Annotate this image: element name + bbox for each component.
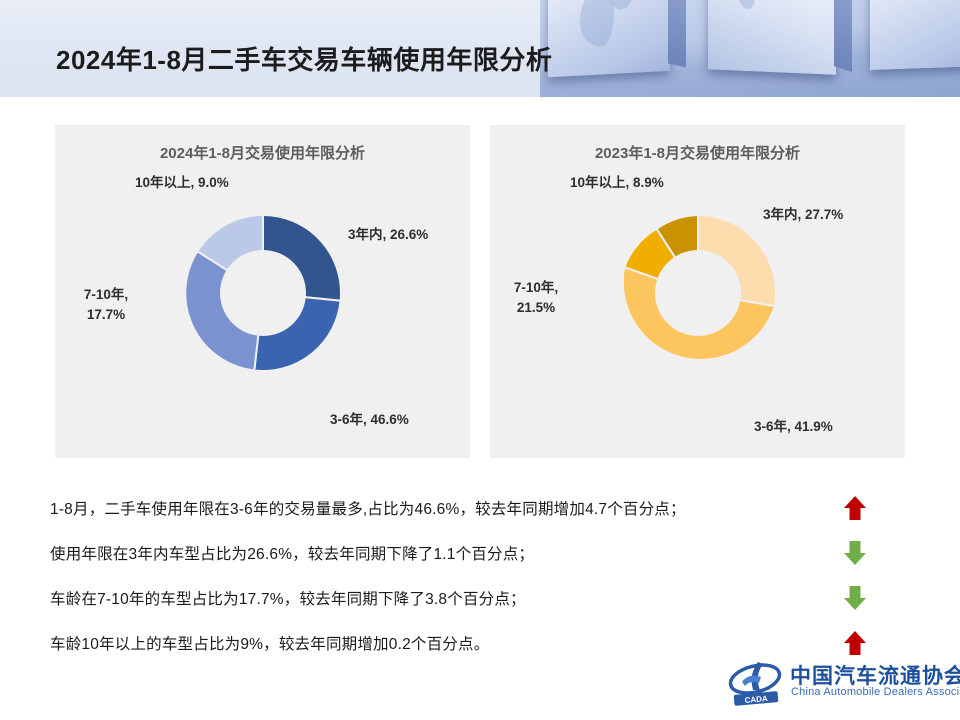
svg-text:CADA: CADA bbox=[744, 694, 768, 705]
summary-row: 车龄在7-10年的车型占比为17.7%，较去年同期下降了3.8个百分点； bbox=[0, 575, 960, 620]
summary-row: 使用年限在3年内车型占比为26.6%，较去年同期下降了1.1个百分点； bbox=[0, 530, 960, 575]
summary-text: 使用年限在3年内车型占比为26.6%，较去年同期下降了1.1个百分点； bbox=[50, 542, 534, 564]
cada-swoosh-logo-icon: CADA bbox=[728, 660, 786, 706]
slice-label-3-6年-2024: 3-6年, 46.6% bbox=[330, 410, 409, 430]
donut-chart-2024 bbox=[175, 205, 351, 381]
slice-label-3-6年-2023: 3-6年, 41.9% bbox=[754, 417, 833, 437]
chart-panel-2024: 2024年1-8月交易使用年限分析 10年以上, 9.0% 3年内, 26.6%… bbox=[55, 125, 470, 458]
arrow-down-icon bbox=[840, 583, 870, 613]
donut-chart-2023 bbox=[610, 205, 786, 381]
chart-panel-2023: 2023年1-8月交易使用年限分析 10年以上, 8.9% 3年内, 27.7%… bbox=[490, 125, 905, 458]
slice-label-10年以上-2023: 10年以上, 8.9% bbox=[570, 173, 664, 193]
slice-label-3年内-2024: 3年内, 26.6% bbox=[348, 225, 428, 245]
world-map-blob bbox=[738, 0, 756, 9]
summary-row: 车龄10年以上的车型占比为9%，较去年同期增加0.2个百分点。 bbox=[0, 620, 960, 665]
summary-text: 1-8月，二手车使用年限在3-6年的交易量最多,占比为46.6%，较去年同期增加… bbox=[50, 497, 686, 519]
header-decoration-image bbox=[540, 0, 960, 97]
slice-label-line1: 7-10年, bbox=[60, 285, 152, 305]
logo-text-en: China Automobile Dealers Association bbox=[791, 686, 960, 698]
page-title: 2024年1-8月二手车交易车辆使用年限分析 bbox=[56, 40, 552, 77]
summary-list: 1-8月，二手车使用年限在3-6年的交易量最多,占比为46.6%，较去年同期增加… bbox=[0, 485, 960, 665]
world-map-blob bbox=[580, 0, 614, 48]
slice-label-7-10年-2023: 7-10年, 21.5% bbox=[490, 278, 582, 317]
arrow-down-icon bbox=[840, 538, 870, 568]
slice-label-line2: 21.5% bbox=[490, 298, 582, 318]
slice-label-line2: 17.7% bbox=[60, 305, 152, 325]
decor-cube-1 bbox=[548, 0, 670, 77]
arrow-up-icon bbox=[840, 628, 870, 658]
summary-text: 车龄在7-10年的车型占比为17.7%，较去年同期下降了3.8个百分点； bbox=[50, 587, 526, 609]
decor-cube-2 bbox=[708, 0, 836, 75]
decor-cube-side bbox=[668, 0, 686, 67]
arrow-up-icon bbox=[840, 493, 870, 523]
slice-label-7-10年-2024: 7-10年, 17.7% bbox=[60, 285, 152, 324]
slice-label-line1: 7-10年, bbox=[490, 278, 582, 298]
cada-logo: CADA 中国汽车流通协会 China Automobile Dealers A… bbox=[728, 660, 938, 708]
slice-label-3年内-2023: 3年内, 27.7% bbox=[763, 205, 843, 225]
donut-svg-2024 bbox=[175, 205, 351, 381]
donut-hole-2024 bbox=[220, 250, 306, 336]
summary-text: 车龄10年以上的车型占比为9%，较去年同期增加0.2个百分点。 bbox=[50, 632, 489, 654]
slice-label-10年以上-2024: 10年以上, 9.0% bbox=[135, 173, 229, 193]
chart-title-2023: 2023年1-8月交易使用年限分析 bbox=[490, 142, 905, 163]
donut-hole-2023 bbox=[655, 250, 741, 336]
decor-cube-3 bbox=[870, 0, 960, 70]
donut-svg-2023 bbox=[610, 205, 786, 381]
chart-title-2024: 2024年1-8月交易使用年限分析 bbox=[55, 142, 470, 163]
decor-cube-side bbox=[834, 0, 852, 73]
summary-row: 1-8月，二手车使用年限在3-6年的交易量最多,占比为46.6%，较去年同期增加… bbox=[0, 485, 960, 530]
